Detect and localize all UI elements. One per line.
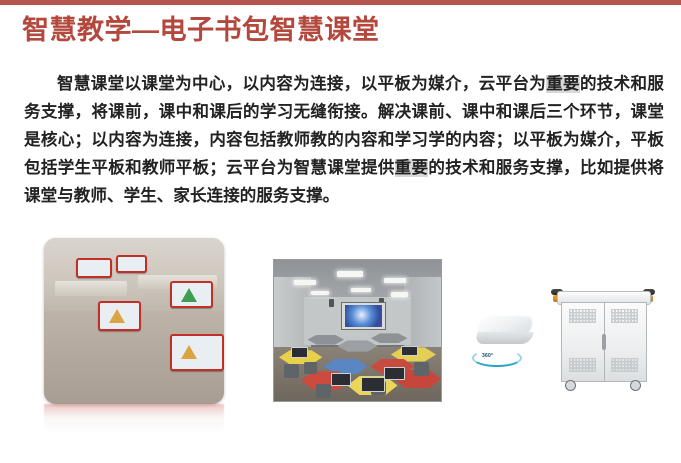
highlighted-term-1: 重要 bbox=[546, 75, 580, 93]
ceiling-light-6 bbox=[391, 292, 408, 296]
slide-canvas: 智慧教学—电子书包智慧课堂 智慧课堂以课堂为中心，以内容为连接，以平板为媒介，云… bbox=[0, 0, 681, 463]
tablet-desk-4 bbox=[361, 377, 385, 392]
chair-left-1 bbox=[284, 364, 299, 378]
highlighted-term-2: 重要 bbox=[395, 159, 429, 177]
cart-vent-bottom-right bbox=[611, 358, 638, 372]
ceiling-light-1 bbox=[294, 280, 316, 285]
ap-side-surface bbox=[474, 332, 533, 344]
ceiling-light-5 bbox=[351, 288, 371, 292]
cart-vent-bottom-left bbox=[569, 358, 596, 372]
cart-vent-top-left bbox=[569, 309, 596, 323]
tablet-front-girl bbox=[170, 334, 224, 371]
photo-1-reflection bbox=[44, 404, 224, 434]
body-paragraph: 智慧课堂以课堂为中心，以内容为连接，以平板为媒介，云平台为重要的技术和服务支撑，… bbox=[24, 70, 664, 210]
top-accent-bar bbox=[0, 0, 681, 5]
tablet-desk-2 bbox=[401, 346, 418, 356]
wireless-ap-device bbox=[474, 315, 536, 353]
tablet-left-boy bbox=[98, 301, 141, 331]
cart-vent-top-right bbox=[611, 309, 638, 323]
ceiling-light-4 bbox=[311, 291, 329, 295]
projection-screen bbox=[341, 302, 386, 329]
photo-wireless-ap-and-charging-cart: 360° bbox=[462, 281, 667, 396]
desk-mid-center bbox=[337, 340, 377, 351]
chair-right-1 bbox=[414, 362, 429, 376]
tablet-desk-3 bbox=[331, 373, 351, 386]
classroom-scene bbox=[44, 238, 224, 404]
tablet-desk-1 bbox=[291, 347, 308, 357]
chair-left-2 bbox=[304, 362, 317, 375]
page-title: 智慧教学—电子书包智慧课堂 bbox=[22, 14, 380, 46]
photo-students-using-tablets bbox=[44, 238, 224, 404]
cart-wheel-left bbox=[565, 380, 576, 391]
tablet-charging-cart bbox=[555, 287, 651, 391]
ap-360-label: 360° bbox=[482, 353, 493, 359]
cart-cabinet-body bbox=[561, 302, 647, 382]
tablet-back-1 bbox=[76, 258, 112, 278]
tablet-back-2 bbox=[116, 255, 147, 273]
body-part-1: 智慧课堂以课堂为中心，以内容为连接，以平板为媒介，云平台为 bbox=[57, 75, 546, 93]
wall-speaker-left bbox=[329, 299, 334, 307]
chair-front-2 bbox=[316, 384, 331, 398]
tablet-right-mid bbox=[170, 281, 213, 308]
cart-wheel-right bbox=[630, 380, 641, 391]
ceiling-light-2 bbox=[337, 271, 362, 277]
rotation-arrow-icon bbox=[472, 349, 522, 367]
tablet-desk-5 bbox=[384, 367, 404, 380]
photo-smart-classroom-room bbox=[273, 259, 442, 402]
ceiling-light-3 bbox=[384, 278, 406, 283]
cart-door-latch bbox=[602, 334, 606, 350]
desk-back-left bbox=[55, 281, 127, 296]
